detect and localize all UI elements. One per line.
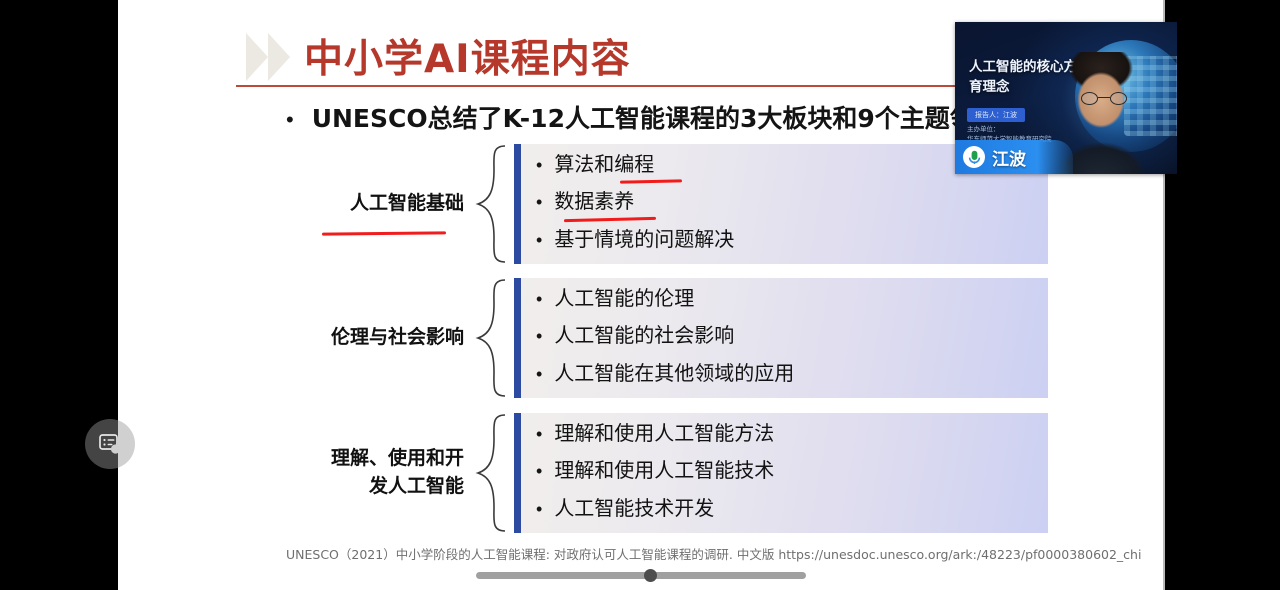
- presenter-name: 江波: [992, 145, 1026, 170]
- subtitle-bullet-icon: •: [286, 109, 294, 131]
- panel-accent-bar: [514, 278, 521, 398]
- curly-brace-icon: [474, 278, 510, 398]
- list-item: • 人工智能的伦理: [536, 282, 1048, 319]
- bullet-icon: •: [536, 365, 542, 383]
- group-label: 理解、使用和开 发人工智能: [331, 445, 464, 500]
- comment-button[interactable]: [85, 419, 135, 469]
- chevron-right-icon: [246, 33, 268, 81]
- list-item-label: 数据素养: [554, 185, 634, 214]
- list-item-label: 基于情境的问题解决: [554, 223, 734, 252]
- panel-accent-bar: [514, 413, 521, 533]
- citation-text: UNESCO（2021）中小学阶段的人工智能课程: 对政府认可人工智能课程的调研…: [286, 544, 1141, 563]
- list-item: • 理解和使用人工智能方法: [536, 417, 1048, 454]
- bullet-icon: •: [536, 290, 542, 308]
- group-label-wrap: 伦理与社会影响: [288, 277, 468, 399]
- microphone-icon: [963, 146, 985, 168]
- annotation-underline: [322, 231, 446, 235]
- bullet-icon: •: [536, 231, 542, 249]
- list-item: • 人工智能技术开发: [536, 492, 1048, 529]
- curriculum-group: 伦理与社会影响 • 人工智能的伦理 • 人工智能的社会影响 • 人工智能在其他领…: [288, 277, 1048, 399]
- list-item-label: 人工智能的伦理: [554, 282, 694, 311]
- group-label-wrap: 人工智能基础: [288, 143, 468, 265]
- video-name-bar: 江波: [955, 140, 1073, 174]
- list-item-label: 人工智能的社会影响: [554, 319, 734, 348]
- comment-list-icon: [97, 431, 123, 457]
- glasses-bridge: [1098, 97, 1110, 98]
- glasses-lens-left: [1081, 92, 1098, 105]
- annotation-underline: [620, 180, 682, 184]
- bullet-icon: •: [536, 156, 542, 174]
- group-label: 伦理与社会影响: [331, 324, 464, 352]
- glasses-icon: [1081, 92, 1127, 105]
- subtitle-row: • UNESCO总结了K-12人工智能课程的3大板块和9个主题领域: [286, 99, 1000, 135]
- list-item: • 人工智能的社会影响: [536, 319, 1048, 356]
- list-item: • 数据素养: [536, 185, 1048, 222]
- slide-progress-slider[interactable]: [476, 572, 806, 579]
- list-item: • 人工智能在其他领域的应用: [536, 357, 1048, 394]
- bullet-icon: •: [536, 500, 542, 518]
- list-item-label: 人工智能技术开发: [554, 492, 714, 521]
- curriculum-group: 理解、使用和开 发人工智能 • 理解和使用人工智能方法 • 理解和使用人工智能技…: [288, 412, 1048, 534]
- group-label: 人工智能基础: [350, 190, 464, 218]
- list-item-label: 理解和使用人工智能方法: [554, 417, 774, 446]
- page-title: 中小学AI课程内容: [304, 28, 631, 84]
- subtitle-text: UNESCO总结了K-12人工智能课程的3大板块和9个主题领域: [312, 99, 1000, 135]
- list-item-label: 理解和使用人工智能技术: [554, 454, 774, 483]
- video-overlay[interactable]: 人工智能的核心方法 及教育理念 报告人：江波 主办单位： 华东师范大学智能教育研…: [955, 22, 1177, 174]
- glasses-lens-right: [1110, 92, 1127, 105]
- slider-handle[interactable]: [644, 569, 657, 582]
- curriculum-group: 人工智能基础 • 算法和编程 • 数据素养 •: [288, 143, 1048, 265]
- bullet-icon: •: [536, 462, 542, 480]
- group-panel: • 人工智能的伦理 • 人工智能的社会影响 • 人工智能在其他领域的应用: [514, 278, 1048, 398]
- curly-brace-icon: [474, 413, 510, 533]
- bullet-icon: •: [536, 327, 542, 345]
- bullet-icon: •: [536, 193, 542, 211]
- annotation-underline: [564, 216, 656, 221]
- chevron-right-icon: [268, 33, 290, 81]
- list-item: • 基于情境的问题解决: [536, 223, 1048, 260]
- bullet-icon: •: [536, 425, 542, 443]
- microphone-glyph: [968, 150, 981, 165]
- group-panel: • 理解和使用人工智能方法 • 理解和使用人工智能技术 • 人工智能技术开发: [514, 413, 1048, 533]
- screen-root: 中小学AI课程内容 • UNESCO总结了K-12人工智能课程的3大板块和9个主…: [0, 0, 1280, 590]
- video-speaker-badge: 报告人：江波: [967, 108, 1025, 122]
- list-item-label: 人工智能在其他领域的应用: [554, 357, 794, 386]
- panel-accent-bar: [514, 144, 521, 264]
- curly-brace-icon: [474, 144, 510, 264]
- group-label-wrap: 理解、使用和开 发人工智能: [288, 412, 468, 534]
- list-item-label: 算法和编程: [554, 148, 654, 177]
- chevron-decoration: [246, 33, 308, 81]
- list-item: • 理解和使用人工智能技术: [536, 454, 1048, 491]
